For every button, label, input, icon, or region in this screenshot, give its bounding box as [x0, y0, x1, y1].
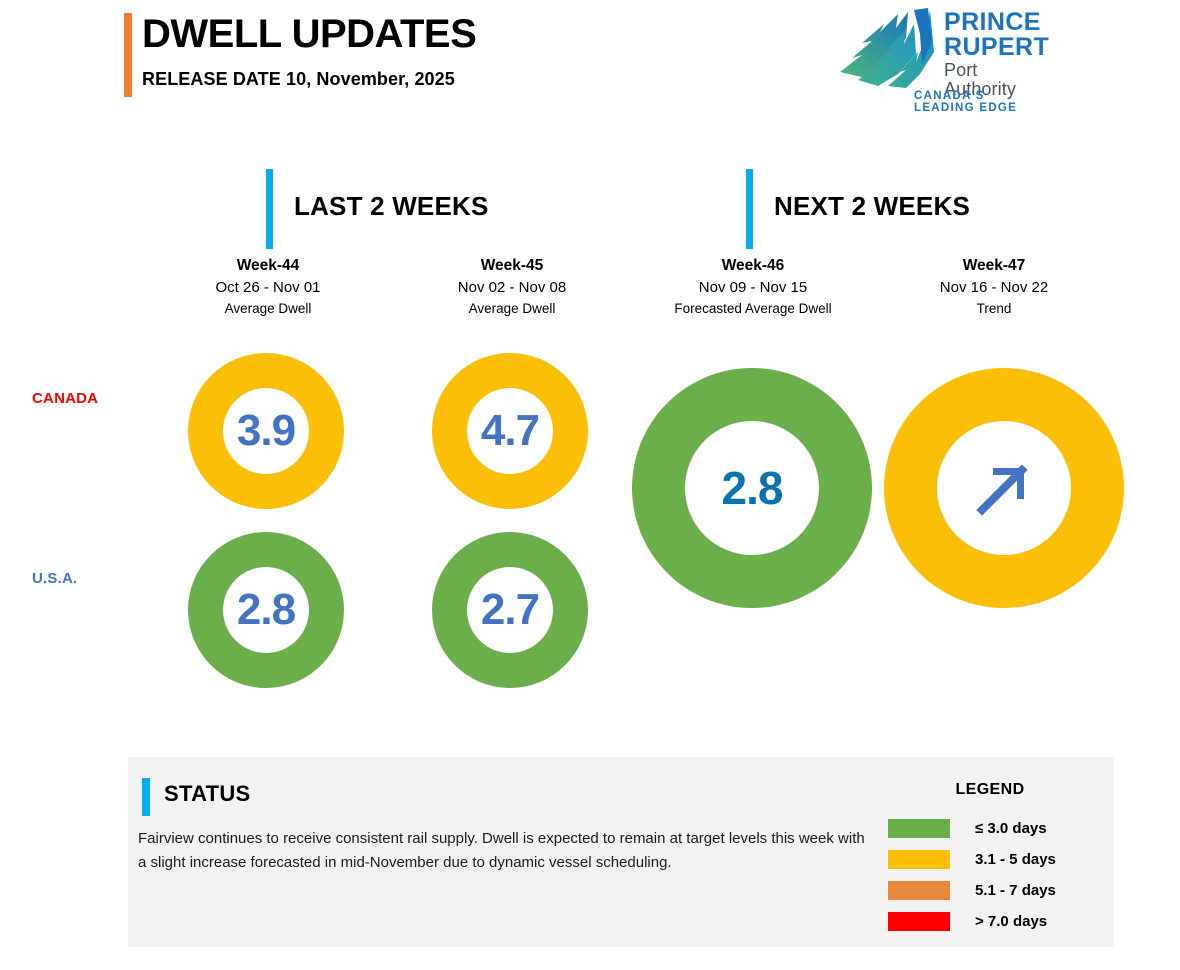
- status-panel: STATUS Fairview continues to receive con…: [128, 757, 1114, 947]
- logo-wordmark: PRINCE RUPERT Port Authority: [944, 10, 1050, 100]
- title-accent-bar: [124, 13, 132, 97]
- legend-label: > 7.0 days: [975, 913, 1047, 930]
- logo-line-rupert: RUPERT: [944, 35, 1050, 60]
- page-title: DWELL UPDATES: [142, 12, 782, 57]
- week-range: Nov 16 - Nov 22: [884, 277, 1104, 299]
- status-text: Fairview continues to receive consistent…: [138, 827, 868, 876]
- status-title: STATUS: [164, 781, 251, 807]
- week-name: Week-47: [884, 256, 1104, 277]
- dwell-updates-page: DWELL UPDATES RELEASE DATE 10, November,…: [0, 0, 1180, 970]
- row-label-usa: U.S.A.: [32, 570, 77, 587]
- week-name: Week-45: [422, 256, 602, 277]
- week-subtitle: Trend: [884, 299, 1104, 319]
- release-date: RELEASE DATE 10, November, 2025: [142, 69, 782, 90]
- legend-swatch-green: [888, 819, 950, 838]
- week-header-45: Week-45 Nov 02 - Nov 08 Average Dwell: [422, 256, 602, 318]
- page-header: DWELL UPDATES RELEASE DATE 10, November,…: [0, 0, 1180, 120]
- week-name: Week-46: [630, 256, 876, 277]
- donut-value: 2.7: [481, 588, 539, 632]
- logo-tagline: CANADA'S LEADING EDGE: [914, 90, 1048, 114]
- legend-swatch-yellow: [888, 850, 950, 869]
- donut-hole: 2.8: [685, 421, 819, 555]
- donut-value: 4.7: [481, 409, 539, 453]
- legend-item: > 7.0 days: [888, 906, 1100, 936]
- legend-swatch-red: [888, 912, 950, 931]
- legend-item: 3.1 - 5 days: [888, 844, 1100, 874]
- donut-week44-canada: 3.9: [188, 353, 344, 509]
- legend: LEGEND ≤ 3.0 days 3.1 - 5 days 5.1 - 7 d…: [888, 781, 1100, 937]
- donut-week45-usa: 2.7: [432, 532, 588, 688]
- prince-rupert-port-authority-logo: PRINCE RUPERT Port Authority CANADA'S LE…: [836, 6, 1048, 110]
- donut-week46-forecast: 2.8: [632, 368, 872, 608]
- section-accent-bar: [266, 169, 273, 249]
- legend-title: LEGEND: [888, 781, 1100, 799]
- legend-label: ≤ 3.0 days: [975, 820, 1047, 837]
- week-header-47: Week-47 Nov 16 - Nov 22 Trend: [884, 256, 1104, 318]
- donut-hole: 4.7: [467, 388, 553, 474]
- donut-value: 2.8: [237, 588, 295, 632]
- legend-item: 5.1 - 7 days: [888, 875, 1100, 905]
- donut-hole: 2.8: [223, 567, 309, 653]
- week-range: Nov 09 - Nov 15: [630, 277, 876, 299]
- week-subtitle: Average Dwell: [178, 299, 358, 319]
- donut-hole: 2.7: [467, 567, 553, 653]
- legend-label: 3.1 - 5 days: [975, 851, 1056, 868]
- donut-value: 3.9: [237, 409, 295, 453]
- donut-week44-usa: 2.8: [188, 532, 344, 688]
- section-accent-bar: [746, 169, 753, 249]
- donut-week45-canada: 4.7: [432, 353, 588, 509]
- section-title-last-2-weeks: LAST 2 WEEKS: [294, 191, 489, 222]
- donut-week47-trend: [884, 368, 1124, 608]
- donut-value: 2.8: [722, 465, 783, 511]
- donut-hole: [937, 421, 1071, 555]
- maple-leaf-icon: [836, 8, 940, 92]
- week-range: Oct 26 - Nov 01: [178, 277, 358, 299]
- donut-hole: 3.9: [223, 388, 309, 474]
- logo-line-prince: PRINCE: [944, 10, 1050, 35]
- week-name: Week-44: [178, 256, 358, 277]
- row-label-canada: CANADA: [32, 390, 98, 407]
- section-title-next-2-weeks: NEXT 2 WEEKS: [774, 191, 970, 222]
- week-range: Nov 02 - Nov 08: [422, 277, 602, 299]
- week-subtitle: Forecasted Average Dwell: [630, 299, 876, 319]
- legend-label: 5.1 - 7 days: [975, 882, 1056, 899]
- status-accent-bar: [142, 778, 150, 816]
- legend-swatch-orange: [888, 881, 950, 900]
- week-subtitle: Average Dwell: [422, 299, 602, 319]
- arrow-up-right-icon: [973, 457, 1035, 519]
- week-header-44: Week-44 Oct 26 - Nov 01 Average Dwell: [178, 256, 358, 318]
- title-block: DWELL UPDATES RELEASE DATE 10, November,…: [142, 12, 782, 90]
- legend-item: ≤ 3.0 days: [888, 813, 1100, 843]
- week-header-46: Week-46 Nov 09 - Nov 15 Forecasted Avera…: [630, 256, 876, 318]
